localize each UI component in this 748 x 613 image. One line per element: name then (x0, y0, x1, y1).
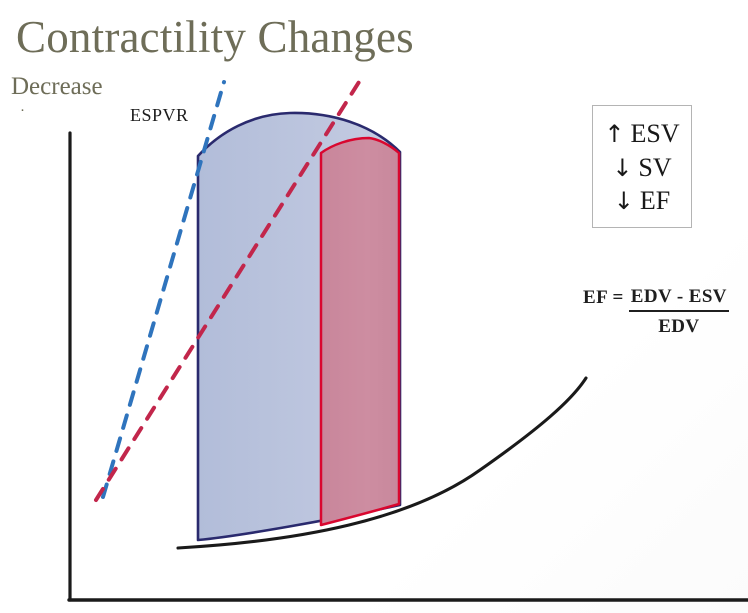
arrow-down-icon: ↓ (612, 153, 632, 184)
espvr-label: ESPVR (130, 105, 189, 126)
legend-item-sv: ↓ SV (612, 151, 671, 185)
legend-item-ef: ↓ EF (614, 184, 670, 218)
ef-numerator: EDV - ESV (629, 286, 729, 312)
legend-item-esv: ↑ ESV (604, 117, 679, 151)
legend-label-ef: EF (640, 184, 670, 218)
ef-formula-lhs: EF = (583, 286, 624, 309)
decreased-contractility-pv-loop (321, 138, 399, 525)
ef-denominator: EDV (658, 312, 699, 338)
ef-formula: EF = EDV - ESV EDV (583, 286, 729, 338)
legend-box: ↑ ESV ↓ SV ↓ EF (592, 105, 692, 228)
ef-fraction: EDV - ESV EDV (629, 286, 729, 338)
legend-label-sv: SV (638, 151, 671, 185)
slide-canvas: Contractility Changes Decrease · (0, 0, 748, 613)
legend-label-esv: ESV (630, 117, 679, 151)
arrow-up-icon: ↑ (604, 119, 624, 150)
arrow-down-icon: ↓ (614, 186, 634, 217)
